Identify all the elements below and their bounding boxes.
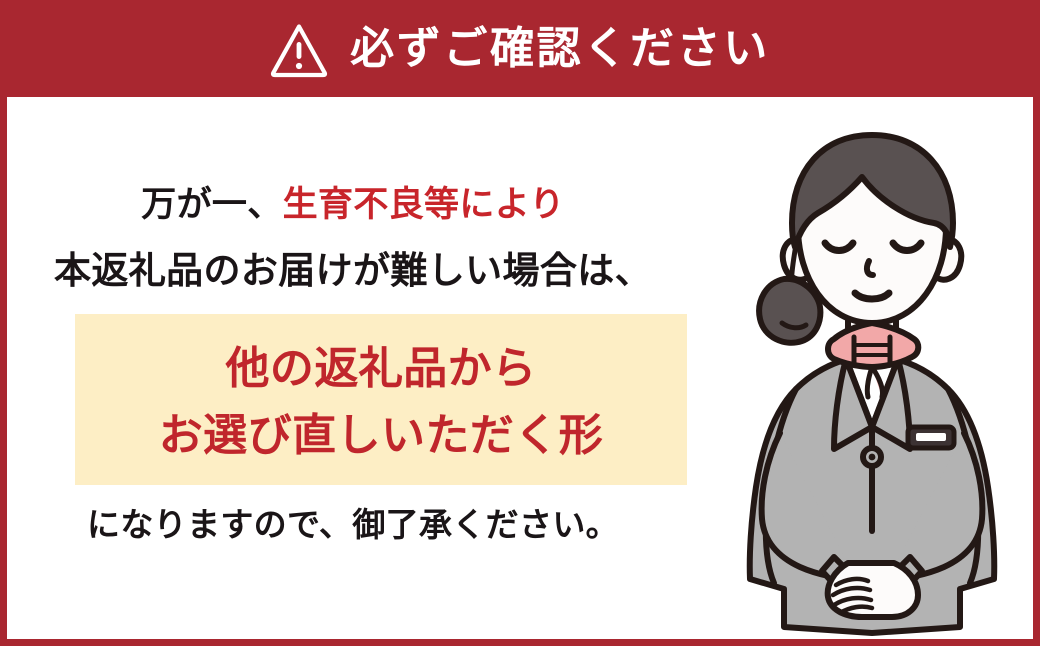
banner-content: 万が一、生育不良等により 本返礼品のお届けが難しい場合は、 他の返礼品から お選…	[0, 97, 1040, 646]
highlight-line-1: 他の返礼品から	[75, 347, 687, 391]
notice-line-4: になりますので、御了承ください。	[0, 508, 706, 541]
notice-banner: 必ずご確認ください 万が一、生育不良等により 本返礼品のお届けが難しい場合は、 …	[0, 0, 1040, 646]
banner-header-title: 必ずご確認ください	[350, 27, 770, 71]
notice-line-2: 本返礼品のお届けが難しい場合は、	[0, 252, 706, 289]
highlight-box: 他の返礼品から お選び直しいただく形	[75, 314, 687, 485]
highlight-line-2: お選び直しいただく形	[75, 414, 687, 458]
name-badge	[908, 427, 954, 448]
notice-text-column: 万が一、生育不良等により 本返礼品のお届けが難しい場合は、 他の返礼品から お選…	[0, 97, 706, 646]
notice-line-1-black: 万が一、	[141, 185, 282, 224]
banner-header: 必ずご確認ください	[0, 0, 1040, 97]
bowing-staff-woman-illustration	[722, 127, 1022, 646]
notice-line-1: 万が一、生育不良等により	[0, 187, 706, 222]
jacket-button	[863, 448, 881, 466]
clasped-hands	[828, 563, 918, 617]
warning-triangle-icon	[270, 22, 328, 78]
notice-line-1-red: 生育不良等により	[283, 185, 565, 224]
